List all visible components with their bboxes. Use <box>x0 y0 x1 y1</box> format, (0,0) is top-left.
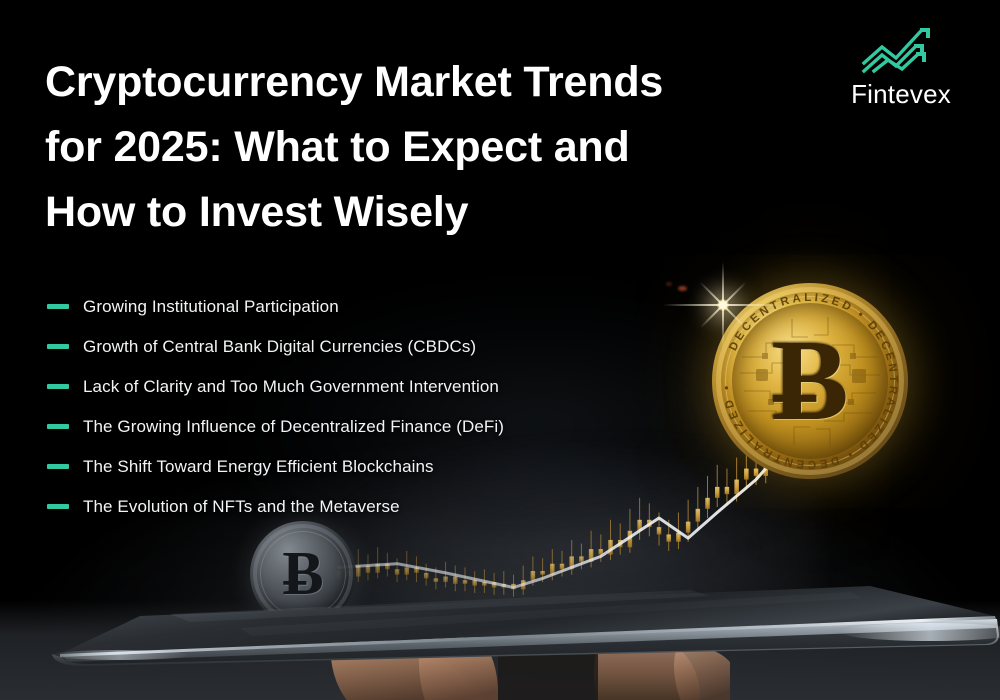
list-item-label: The Shift Toward Energy Efficient Blockc… <box>83 458 434 475</box>
page-title: Cryptocurrency Market Trends for 2025: W… <box>45 50 785 245</box>
list-item: The Evolution of NFTs and the Metaverse <box>47 486 504 526</box>
headline-line-3: How to Invest Wisely <box>45 180 785 245</box>
headline-line-1: Cryptocurrency Market Trends <box>45 50 785 115</box>
dash-icon <box>47 344 69 349</box>
list-item-label: The Evolution of NFTs and the Metaverse <box>83 498 400 515</box>
dash-icon <box>47 424 69 429</box>
list-item: The Growing Influence of Decentralized F… <box>47 406 504 446</box>
list-item: Growth of Central Bank Digital Currencie… <box>47 326 504 366</box>
list-item: Growing Institutional Participation <box>47 286 504 326</box>
growth-arrows-icon <box>826 22 976 79</box>
dash-icon <box>47 304 69 309</box>
brand-logo[interactable]: Fintevex <box>826 22 976 107</box>
headline-line-2: for 2025: What to Expect and <box>45 115 785 180</box>
list-item-label: The Growing Influence of Decentralized F… <box>83 418 504 435</box>
dash-icon <box>47 384 69 389</box>
bitcoin-gold-coin: DECENTRALIZED • DECENTRALIZED • DECENTRA… <box>712 283 908 479</box>
list-item-label: Growing Institutional Participation <box>83 298 339 315</box>
coin-circuit-pattern <box>732 303 888 459</box>
list-item-label: Growth of Central Bank Digital Currencie… <box>83 338 476 355</box>
bitcoin-silver-coin: Ƀ <box>250 521 356 627</box>
bitcoin-symbol-silver: Ƀ <box>250 543 356 605</box>
list-item: The Shift Toward Energy Efficient Blockc… <box>47 446 504 486</box>
list-item: Lack of Clarity and Too Much Government … <box>47 366 504 406</box>
dash-icon <box>47 504 69 509</box>
topic-list: Growing Institutional Participation Grow… <box>47 286 504 526</box>
brand-name: Fintevex <box>826 81 976 107</box>
crypto-trends-banner: Ƀ <box>0 0 1000 700</box>
list-item-label: Lack of Clarity and Too Much Government … <box>83 378 499 395</box>
dash-icon <box>47 464 69 469</box>
